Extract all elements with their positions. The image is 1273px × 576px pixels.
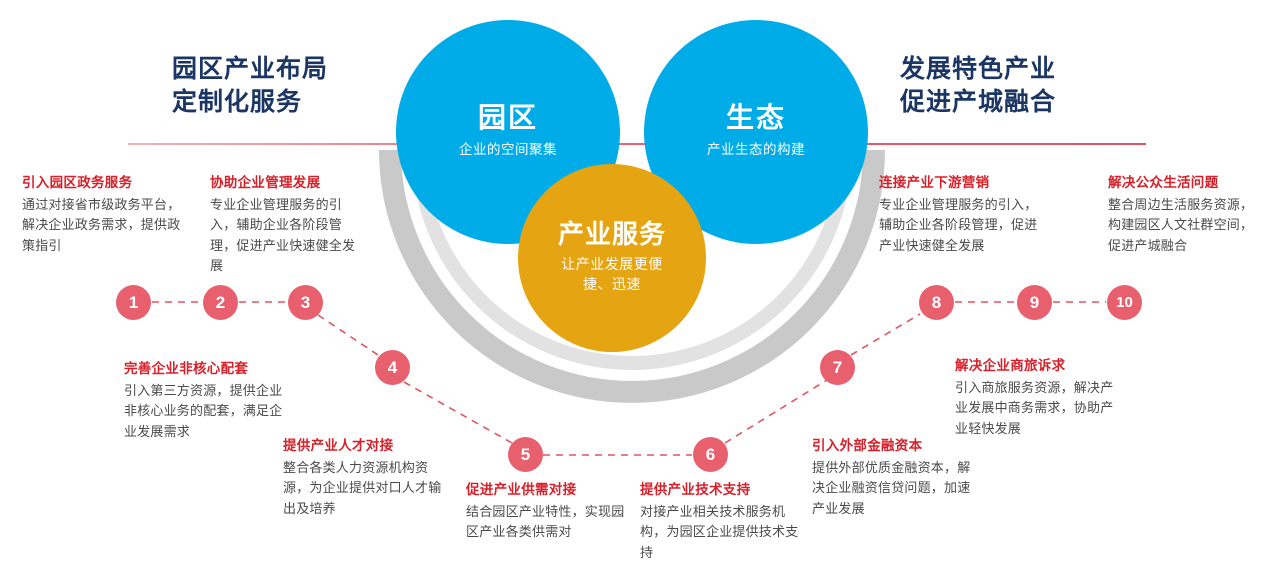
step-badge-5-number: 5: [521, 445, 530, 465]
step-block-8: 解决企业商旅诉求 引入商旅服务资源，解决产业发展中商务需求，协助产业轻快发展: [955, 357, 1120, 439]
step-badge-10[interactable]: 10: [1107, 285, 1142, 320]
step-badge-1-number: 1: [129, 293, 138, 313]
step-block-6-title: 提供产业技术支持: [640, 481, 805, 499]
bubble-ecosystem-title: 生态: [726, 102, 786, 134]
step-block-9-title: 连接产业下游营销: [879, 174, 1039, 192]
heading-right: 发展特色产业 促进产城融合: [900, 53, 1056, 118]
connector-3-4: [318, 315, 378, 355]
header-divider-line: [128, 143, 1146, 145]
step-badge-7-number: 7: [833, 358, 842, 378]
step-badge-8-number: 8: [932, 293, 941, 313]
heading-left: 园区产业布局 定制化服务: [172, 53, 328, 118]
step-block-1-body: 通过对接省市级政务平台，解决企业政务需求，提供政策指引: [22, 195, 182, 255]
connector-6-7: [725, 380, 827, 443]
step-block-4-title: 提供产业人才对接: [283, 437, 451, 455]
step-block-3-title: 完善企业非核心配套: [124, 360, 294, 378]
step-block-10: 解决公众生活问题 整合周边生活服务资源，构建园区人文社群空间，促进产城融合: [1108, 174, 1263, 256]
heading-right-line2: 促进产城融合: [900, 86, 1056, 119]
step-badge-9-number: 9: [1030, 293, 1039, 313]
step-block-7-title: 引入外部金融资本: [812, 437, 980, 455]
bubble-ecosystem-subtitle: 产业生态的构建: [707, 140, 805, 160]
bubble-park-subtitle: 企业的空间聚集: [459, 140, 557, 160]
step-block-10-title: 解决公众生活问题: [1108, 174, 1263, 192]
step-badge-1[interactable]: 1: [116, 285, 151, 320]
step-badge-2-number: 2: [216, 293, 225, 313]
step-block-4-body: 整合各类人力资源机构资源，为企业提供对口人才输出及培养: [283, 458, 451, 518]
step-block-9-body: 专业企业管理服务的引入，辅助企业各阶段管理，促进产业快速健全发展: [879, 195, 1039, 255]
infographic-canvas: 园区产业布局 定制化服务 发展特色产业 促进产城融合 园区 企业的空间聚集 生态…: [0, 0, 1273, 576]
step-block-9: 连接产业下游营销 专业企业管理服务的引入，辅助企业各阶段管理，促进产业快速健全发…: [879, 174, 1039, 256]
step-block-2: 协助企业管理发展 专业企业管理服务的引入，辅助企业各阶段管理，促进产业快速健全发…: [210, 174, 365, 276]
step-block-5-body: 结合园区产业特性，实现园区产业各类供需对: [466, 502, 631, 542]
bubble-industry-service[interactable]: 产业服务 让产业发展更便捷、迅速: [518, 164, 706, 352]
step-block-8-title: 解决企业商旅诉求: [955, 357, 1120, 375]
step-block-5: 促进产业供需对接 结合园区产业特性，实现园区产业各类供需对: [466, 481, 631, 543]
step-block-2-body: 专业企业管理服务的引入，辅助企业各阶段管理，促进产业快速健全发展: [210, 195, 365, 276]
heading-left-line1: 园区产业布局: [172, 53, 328, 86]
step-block-4: 提供产业人才对接 整合各类人力资源机构资源，为企业提供对口人才输出及培养: [283, 437, 451, 519]
step-block-10-body: 整合周边生活服务资源，构建园区人文社群空间，促进产城融合: [1108, 195, 1263, 255]
step-block-6: 提供产业技术支持 对接产业相关技术服务机构，为园区企业提供技术支持: [640, 481, 805, 563]
connector-7-8: [851, 314, 920, 355]
step-badge-6[interactable]: 6: [693, 437, 728, 472]
step-badge-9[interactable]: 9: [1017, 285, 1052, 320]
step-badge-2[interactable]: 2: [203, 285, 238, 320]
step-badge-10-number: 10: [1116, 294, 1133, 311]
step-block-7: 引入外部金融资本 提供外部优质金融资本，解决企业融资信贷问题，加速产业发展: [812, 437, 980, 519]
step-badge-3-number: 3: [301, 293, 310, 313]
step-badge-7[interactable]: 7: [820, 350, 855, 385]
step-block-8-body: 引入商旅服务资源，解决产业发展中商务需求，协助产业轻快发展: [955, 378, 1120, 438]
step-block-3-body: 引入第三方资源，提供企业非核心业务的配套，满足企业发展需求: [124, 381, 294, 441]
heading-left-line2: 定制化服务: [172, 86, 328, 119]
step-block-5-title: 促进产业供需对接: [466, 481, 631, 499]
connector-4-5: [404, 382, 512, 443]
step-badge-8[interactable]: 8: [919, 285, 954, 320]
step-badge-5[interactable]: 5: [508, 437, 543, 472]
step-block-3: 完善企业非核心配套 引入第三方资源，提供企业非核心业务的配套，满足企业发展需求: [124, 360, 294, 442]
step-block-1: 引入园区政务服务 通过对接省市级政务平台，解决企业政务需求，提供政策指引: [22, 174, 182, 256]
step-badge-6-number: 6: [706, 445, 715, 465]
step-badge-4-number: 4: [388, 358, 397, 378]
step-block-7-body: 提供外部优质金融资本，解决企业融资信贷问题，加速产业发展: [812, 458, 980, 518]
step-block-6-body: 对接产业相关技术服务机构，为园区企业提供技术支持: [640, 502, 805, 562]
heading-right-line1: 发展特色产业: [900, 53, 1056, 86]
step-block-2-title: 协助企业管理发展: [210, 174, 365, 192]
step-block-1-title: 引入园区政务服务: [22, 174, 182, 192]
bubble-industry-service-subtitle: 让产业发展更便捷、迅速: [547, 254, 677, 295]
bubble-industry-service-title: 产业服务: [558, 220, 666, 250]
step-badge-3[interactable]: 3: [288, 285, 323, 320]
step-badge-4[interactable]: 4: [375, 350, 410, 385]
bubble-park-title: 园区: [478, 102, 538, 134]
